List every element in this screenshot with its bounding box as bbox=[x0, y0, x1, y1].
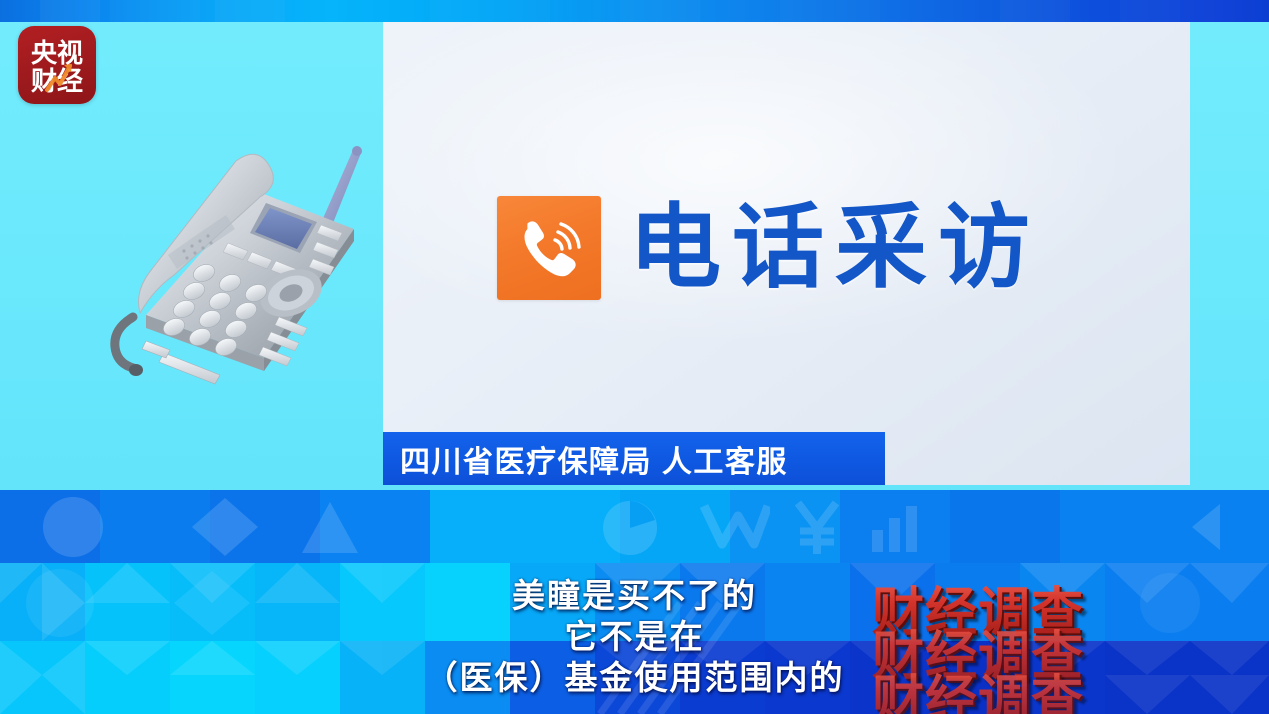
cctv-finance-logo: 央视 财经 bbox=[18, 26, 96, 104]
strip-pattern-block bbox=[215, 0, 285, 22]
chevron-decor-icon bbox=[1180, 502, 1240, 552]
chart-arrow-icon bbox=[44, 62, 74, 94]
headline-group: 电话采访 bbox=[497, 196, 1041, 300]
strip-pattern-block bbox=[620, 0, 700, 22]
source-bar-text: 四川省医疗保障局 人工客服 bbox=[400, 437, 788, 481]
pie-chart-icon bbox=[600, 498, 660, 558]
strip-pattern-block bbox=[40, 0, 100, 22]
yen-symbol-icon bbox=[790, 498, 845, 558]
strip-pattern-block bbox=[110, 0, 200, 22]
broadcast-frame: 电话采访 四川省医疗保障局 人工客服 bbox=[0, 0, 1269, 714]
top-gradient-strip bbox=[0, 0, 1269, 22]
bar-chart-icon bbox=[868, 504, 923, 552]
chart-arrow-icon bbox=[700, 500, 770, 555]
strip-pattern-block bbox=[780, 0, 880, 22]
diamond-decor-icon bbox=[190, 496, 260, 558]
triangle-decor-icon bbox=[300, 500, 360, 555]
strip-pattern-block bbox=[1000, 0, 1070, 22]
strip-pattern-block bbox=[1120, 0, 1180, 22]
phone-call-icon bbox=[497, 196, 601, 300]
mid-decor-band bbox=[0, 490, 1269, 563]
desk-telephone-photo bbox=[88, 125, 388, 390]
circle-decor-icon bbox=[40, 494, 106, 560]
program-logo: 财经调查 财经调查 财经调查 bbox=[872, 570, 1150, 714]
source-bar: 四川省医疗保障局 人工客服 bbox=[383, 432, 885, 485]
program-logo-line: 财经调查 bbox=[872, 658, 1084, 714]
decor-tile bbox=[950, 490, 1060, 563]
headline-text: 电话采访 bbox=[629, 202, 1041, 294]
decor-tile bbox=[430, 490, 620, 563]
strip-pattern-block bbox=[430, 0, 550, 22]
